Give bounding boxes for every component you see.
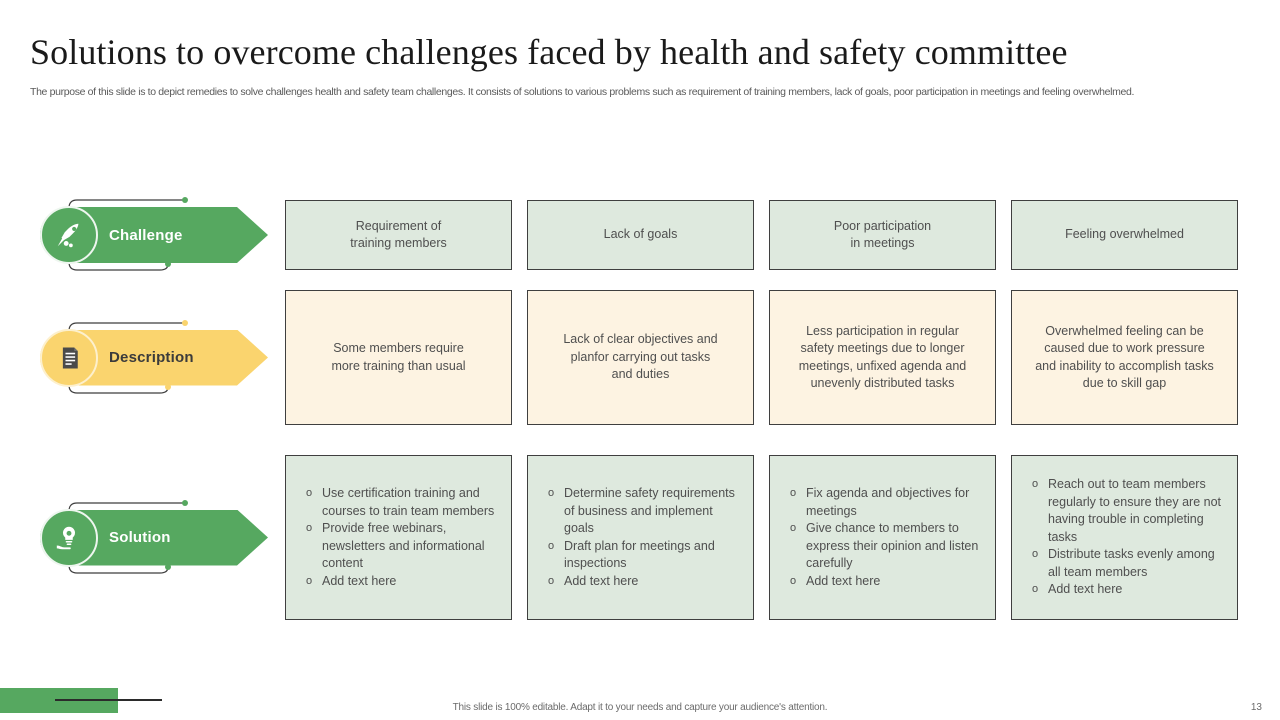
card-challenge-3[interactable]: Poor participation in meetings (769, 200, 996, 270)
banner-label: Challenge (109, 227, 182, 244)
list-item: Provide free webinars, newsletters and i… (320, 520, 499, 573)
card-solution-2[interactable]: Determine safety requirements of busines… (527, 455, 754, 620)
banner-challenge[interactable]: Challenge (40, 207, 268, 263)
list-item: Distribute tasks evenly among all team m… (1046, 546, 1225, 581)
list-item: Use certification training and courses t… (320, 485, 499, 520)
banner-label: Solution (109, 529, 171, 546)
document-icon (40, 329, 98, 387)
card-description-4[interactable]: Overwhelmed feeling can be caused due to… (1011, 290, 1238, 425)
footer-rule (55, 699, 162, 701)
list-item: Fix agenda and objectives for meetings (804, 485, 983, 520)
footer-note: This slide is 100% editable. Adapt it to… (0, 702, 1280, 713)
banner-label: Description (109, 349, 194, 366)
card-solution-4[interactable]: Reach out to team members regularly to e… (1011, 455, 1238, 620)
page-title: Solutions to overcome challenges faced b… (30, 30, 1245, 74)
bullet-list: Reach out to team members regularly to e… (1028, 476, 1225, 599)
list-item: Add text here (804, 573, 983, 591)
row-label-description[interactable]: Description (40, 290, 275, 425)
card-challenge-4[interactable]: Feeling overwhelmed (1011, 200, 1238, 270)
bullet-list: Determine safety requirements of busines… (544, 485, 741, 590)
card-solution-3[interactable]: Fix agenda and objectives for meetings G… (769, 455, 996, 620)
cards-description: Some members require more training than … (285, 290, 1238, 425)
row-solution: Solution Use certification training and … (0, 455, 1280, 620)
list-item: Add text here (320, 573, 499, 591)
page-number: 13 (1251, 702, 1262, 713)
page-subtitle: The purpose of this slide is to depict r… (30, 85, 1210, 100)
rocket-goal-icon (40, 206, 98, 264)
list-item: Add text here (1046, 581, 1225, 599)
row-label-solution[interactable]: Solution (40, 455, 275, 620)
card-description-3[interactable]: Less participation in regular safety mee… (769, 290, 996, 425)
list-item: Draft plan for meetings and inspections (562, 538, 741, 573)
row-challenge: Challenge Requirement of training member… (0, 200, 1280, 270)
cards-solution: Use certification training and courses t… (285, 455, 1238, 620)
list-item: Determine safety requirements of busines… (562, 485, 741, 538)
list-item: Reach out to team members regularly to e… (1046, 476, 1225, 546)
card-challenge-2[interactable]: Lack of goals (527, 200, 754, 270)
cards-challenge: Requirement of training members Lack of … (285, 200, 1238, 270)
banner-description[interactable]: Description (40, 330, 268, 386)
list-item: Add text here (562, 573, 741, 591)
row-description: Description Some members require more tr… (0, 290, 1280, 425)
bullet-list: Use certification training and courses t… (302, 485, 499, 590)
solutions-matrix: Challenge Requirement of training member… (0, 175, 1280, 645)
bullet-list: Fix agenda and objectives for meetings G… (786, 485, 983, 590)
card-description-1[interactable]: Some members require more training than … (285, 290, 512, 425)
card-solution-1[interactable]: Use certification training and courses t… (285, 455, 512, 620)
list-item: Give chance to members to express their … (804, 520, 983, 573)
card-challenge-1[interactable]: Requirement of training members (285, 200, 512, 270)
row-label-challenge[interactable]: Challenge (40, 200, 275, 270)
banner-solution[interactable]: Solution (40, 510, 268, 566)
hand-lightbulb-icon (40, 509, 98, 567)
card-description-2[interactable]: Lack of clear objectives and planfor car… (527, 290, 754, 425)
